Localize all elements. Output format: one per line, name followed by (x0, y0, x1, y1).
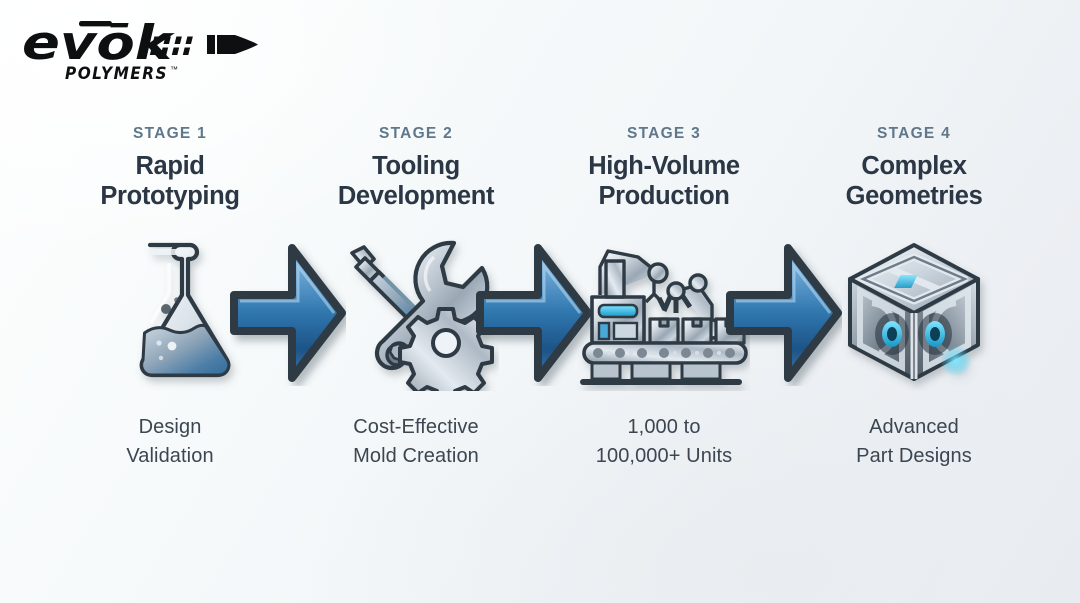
stage-2-kicker: STAGE 2 (308, 126, 524, 142)
flask-neck-highlight (151, 249, 190, 255)
stage-1-caption-line1: Design (62, 413, 278, 442)
stage-4-caption: Advanced Part Designs (798, 413, 1030, 471)
machine-display (599, 305, 637, 317)
stage-2-title: Tooling Development (308, 151, 524, 212)
infographic-canvas: evōk POLYMERS ™ (0, 0, 1080, 603)
stage-2-caption-line2: Mold Creation (300, 442, 532, 471)
stage-1-kicker: STAGE 1 (62, 126, 278, 142)
flask-glass-glint (151, 263, 169, 323)
stage-4-kicker: STAGE 4 (806, 126, 1022, 142)
flask-bubble-5 (159, 356, 163, 360)
conveyor-base (580, 379, 742, 385)
stage-4-caption-line1: Advanced (798, 413, 1030, 442)
machine-panel-right (614, 323, 637, 339)
stage-2-caption: Cost-Effective Mold Creation (300, 413, 532, 471)
stage-2-title-line1: Tooling (308, 151, 524, 181)
logo-trademark: ™ (170, 65, 178, 74)
stage-4-title-line2: Geometries (806, 181, 1022, 211)
machine-panel-left (599, 323, 609, 339)
stage-4-title-line1: Complex (806, 151, 1022, 181)
stage-4-caption-line2: Part Designs (798, 442, 1030, 471)
robotic-assembly-line-icon (570, 231, 750, 391)
stage-2-caption-line1: Cost-Effective (300, 413, 532, 442)
cube-right-pupil (930, 327, 940, 341)
cube-left-pupil (887, 327, 897, 341)
stage-1-title: Rapid Prototyping (62, 151, 278, 212)
brand-logo: evōk POLYMERS ™ (22, 14, 272, 86)
stage-3-title: High-Volume Production (556, 151, 772, 212)
flask-liquid (142, 325, 229, 375)
logo-word-polymers: POLYMERS (65, 64, 168, 83)
flask-bubble-1 (161, 304, 171, 314)
lattice-cube-icon (834, 231, 994, 391)
flask-bubble-3 (168, 342, 177, 351)
flask-icon (95, 231, 245, 391)
logo-wordmark: evōk (22, 16, 175, 71)
stage-1-caption-line2: Validation (62, 442, 278, 471)
stage-4-header: STAGE 4 Complex Geometries (806, 126, 1022, 211)
stage-3-title-line2: Production (556, 181, 772, 211)
stage-1-caption: Design Validation (62, 413, 278, 471)
cube-corner-glow (940, 345, 972, 377)
stage-3-caption: 1,000 to 100,000+ Units (548, 413, 780, 471)
conveyor-legs (592, 363, 720, 379)
stage-1-title-line2: Prototyping (62, 181, 278, 211)
stage-3-kicker: STAGE 3 (556, 126, 772, 142)
flask-bubble-4 (156, 340, 161, 345)
stage-3-header: STAGE 3 High-Volume Production (556, 126, 772, 211)
stage-3-caption-line1: 1,000 to (548, 413, 780, 442)
stage-1-title-line1: Rapid (62, 151, 278, 181)
stage-4-icon-slot (806, 231, 1022, 391)
stage-4-title: Complex Geometries (806, 151, 1022, 212)
flask-bubble-2 (174, 297, 180, 303)
stage-3-caption-line2: 100,000+ Units (548, 442, 780, 471)
stage-1-header: STAGE 1 Rapid Prototyping (62, 126, 278, 211)
stage-2-title-line2: Development (308, 181, 524, 211)
stage-3-title-line1: High-Volume (556, 151, 772, 181)
conveyor-belt (580, 343, 746, 385)
wrench-screwdriver-gear-icon (334, 231, 499, 391)
logo-macron-accent (79, 21, 112, 26)
stage-2-header: STAGE 2 Tooling Development (308, 126, 524, 211)
